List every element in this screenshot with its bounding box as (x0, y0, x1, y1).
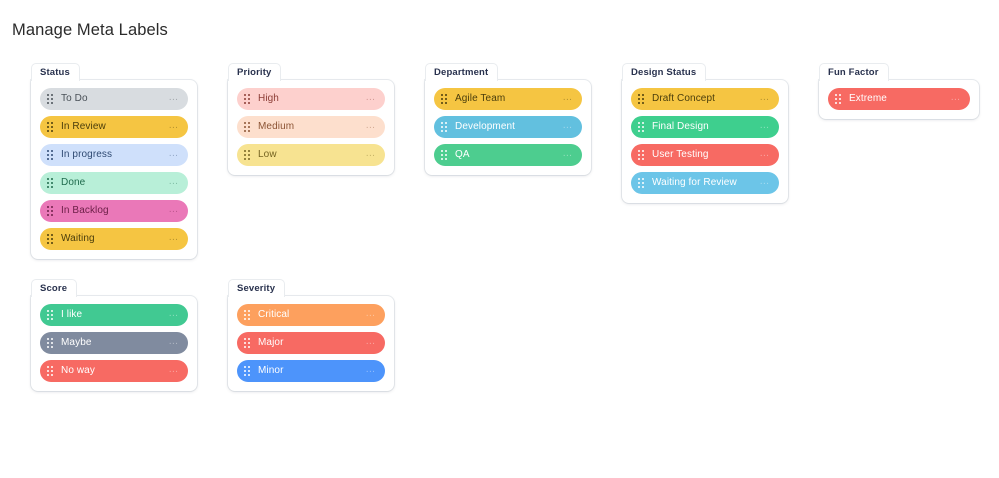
drag-handle-icon[interactable] (638, 150, 645, 161)
label-pill[interactable]: Done… (40, 172, 188, 194)
overflow-menu-icon[interactable]: … (168, 336, 179, 351)
label-pill-text: In Review (61, 121, 168, 133)
label-group-status: StatusTo Do…In Review…In progress…Done…I… (31, 62, 197, 259)
overflow-menu-icon[interactable]: … (365, 120, 376, 135)
label-pill[interactable]: In Backlog… (40, 200, 188, 222)
drag-handle-icon[interactable] (47, 94, 54, 105)
label-group-score: ScoreI like…Maybe…No way… (31, 278, 197, 391)
label-pill-text: Medium (258, 121, 365, 133)
label-pill-text: In progress (61, 149, 168, 161)
group-card-status: To Do…In Review…In progress…Done…In Back… (31, 80, 197, 259)
group-tab-status[interactable]: Status (31, 63, 80, 81)
overflow-menu-icon[interactable]: … (759, 176, 770, 191)
overflow-menu-icon[interactable]: … (759, 120, 770, 135)
board-row: ScoreI like…Maybe…No way…SeverityCritica… (0, 278, 999, 478)
drag-handle-icon[interactable] (244, 150, 251, 161)
label-pill[interactable]: Draft Concept… (631, 88, 779, 110)
drag-handle-icon[interactable] (244, 310, 251, 321)
label-pill-text: Extreme (849, 93, 950, 105)
overflow-menu-icon[interactable]: … (168, 204, 179, 219)
label-pill[interactable]: Waiting for Review… (631, 172, 779, 194)
overflow-menu-icon[interactable]: … (365, 336, 376, 351)
overflow-menu-icon[interactable]: … (950, 92, 961, 107)
label-pill-text: High (258, 93, 365, 105)
drag-handle-icon[interactable] (47, 122, 54, 133)
label-pill[interactable]: I like… (40, 304, 188, 326)
label-pill[interactable]: Agile Team… (434, 88, 582, 110)
drag-handle-icon[interactable] (638, 178, 645, 189)
label-group-department: DepartmentAgile Team…Development…QA… (425, 62, 591, 175)
group-card-score: I like…Maybe…No way… (31, 296, 197, 391)
label-pill-text: In Backlog (61, 205, 168, 217)
drag-handle-icon[interactable] (638, 94, 645, 105)
label-pill[interactable]: QA… (434, 144, 582, 166)
drag-handle-icon[interactable] (47, 366, 54, 377)
overflow-menu-icon[interactable]: … (365, 364, 376, 379)
label-pill[interactable]: User Testing… (631, 144, 779, 166)
overflow-menu-icon[interactable]: … (562, 92, 573, 107)
drag-handle-icon[interactable] (47, 206, 54, 217)
label-group-design-status: Design StatusDraft Concept…Final Design…… (622, 62, 788, 203)
group-tab-priority[interactable]: Priority (228, 63, 281, 81)
group-tab-severity[interactable]: Severity (228, 279, 285, 297)
drag-handle-icon[interactable] (47, 178, 54, 189)
label-pill[interactable]: In Review… (40, 116, 188, 138)
label-pill-text: Waiting (61, 233, 168, 245)
overflow-menu-icon[interactable]: … (562, 120, 573, 135)
overflow-menu-icon[interactable]: … (759, 148, 770, 163)
overflow-menu-icon[interactable]: … (168, 308, 179, 323)
board-row: StatusTo Do…In Review…In progress…Done…I… (0, 62, 999, 262)
group-card-department: Agile Team…Development…QA… (425, 80, 591, 175)
label-pill[interactable]: Minor… (237, 360, 385, 382)
group-card-design-status: Draft Concept…Final Design…User Testing…… (622, 80, 788, 203)
drag-handle-icon[interactable] (244, 122, 251, 133)
label-group-severity: SeverityCritical…Major…Minor… (228, 278, 394, 391)
label-pill[interactable]: High… (237, 88, 385, 110)
overflow-menu-icon[interactable]: … (562, 148, 573, 163)
label-pill[interactable]: In progress… (40, 144, 188, 166)
label-pill[interactable]: No way… (40, 360, 188, 382)
group-card-priority: High…Medium…Low… (228, 80, 394, 175)
drag-handle-icon[interactable] (47, 234, 54, 245)
label-pill-text: User Testing (652, 149, 759, 161)
overflow-menu-icon[interactable]: … (168, 176, 179, 191)
label-pill-text: I like (61, 309, 168, 321)
label-pill[interactable]: Waiting… (40, 228, 188, 250)
drag-handle-icon[interactable] (441, 122, 448, 133)
label-pill[interactable]: Medium… (237, 116, 385, 138)
label-pill[interactable]: Final Design… (631, 116, 779, 138)
overflow-menu-icon[interactable]: … (168, 148, 179, 163)
label-pill[interactable]: Major… (237, 332, 385, 354)
drag-handle-icon[interactable] (441, 150, 448, 161)
drag-handle-icon[interactable] (47, 150, 54, 161)
label-group-priority: PriorityHigh…Medium…Low… (228, 62, 394, 175)
group-card-fun-factor: Extreme… (819, 80, 979, 119)
overflow-menu-icon[interactable]: … (168, 364, 179, 379)
label-pill-text: Minor (258, 365, 365, 377)
overflow-menu-icon[interactable]: … (168, 120, 179, 135)
drag-handle-icon[interactable] (244, 338, 251, 349)
label-pill[interactable]: Extreme… (828, 88, 970, 110)
label-pill[interactable]: Maybe… (40, 332, 188, 354)
drag-handle-icon[interactable] (244, 94, 251, 105)
overflow-menu-icon[interactable]: … (759, 92, 770, 107)
label-pill-text: Final Design (652, 121, 759, 133)
drag-handle-icon[interactable] (638, 122, 645, 133)
label-pill-text: Critical (258, 309, 365, 321)
overflow-menu-icon[interactable]: … (365, 308, 376, 323)
label-group-fun-factor: Fun FactorExtreme… (819, 62, 979, 119)
label-pill-text: Major (258, 337, 365, 349)
label-pill-text: To Do (61, 93, 168, 105)
drag-handle-icon[interactable] (244, 366, 251, 377)
group-tab-score[interactable]: Score (31, 279, 77, 297)
drag-handle-icon[interactable] (835, 94, 842, 105)
overflow-menu-icon[interactable]: … (168, 232, 179, 247)
drag-handle-icon[interactable] (441, 94, 448, 105)
drag-handle-icon[interactable] (47, 310, 54, 321)
label-pill-text: Waiting for Review (652, 177, 759, 189)
label-pill-text: Development (455, 121, 562, 133)
overflow-menu-icon[interactable]: … (168, 92, 179, 107)
label-pill-text: QA (455, 149, 562, 161)
label-pill-text: Draft Concept (652, 93, 759, 105)
group-tab-fun-factor[interactable]: Fun Factor (819, 63, 889, 81)
label-pill[interactable]: To Do… (40, 88, 188, 110)
label-pill-text: Maybe (61, 337, 168, 349)
overflow-menu-icon[interactable]: … (365, 92, 376, 107)
drag-handle-icon[interactable] (47, 338, 54, 349)
label-pill[interactable]: Development… (434, 116, 582, 138)
label-pill-text: Done (61, 177, 168, 189)
page-title: Manage Meta Labels (12, 21, 168, 40)
label-pill-text: Agile Team (455, 93, 562, 105)
label-pill-text: Low (258, 149, 365, 161)
label-pill[interactable]: Critical… (237, 304, 385, 326)
group-card-severity: Critical…Major…Minor… (228, 296, 394, 391)
overflow-menu-icon[interactable]: … (365, 148, 376, 163)
label-pill-text: No way (61, 365, 168, 377)
group-tab-department[interactable]: Department (425, 63, 498, 81)
label-pill[interactable]: Low… (237, 144, 385, 166)
group-tab-design-status[interactable]: Design Status (622, 63, 706, 81)
